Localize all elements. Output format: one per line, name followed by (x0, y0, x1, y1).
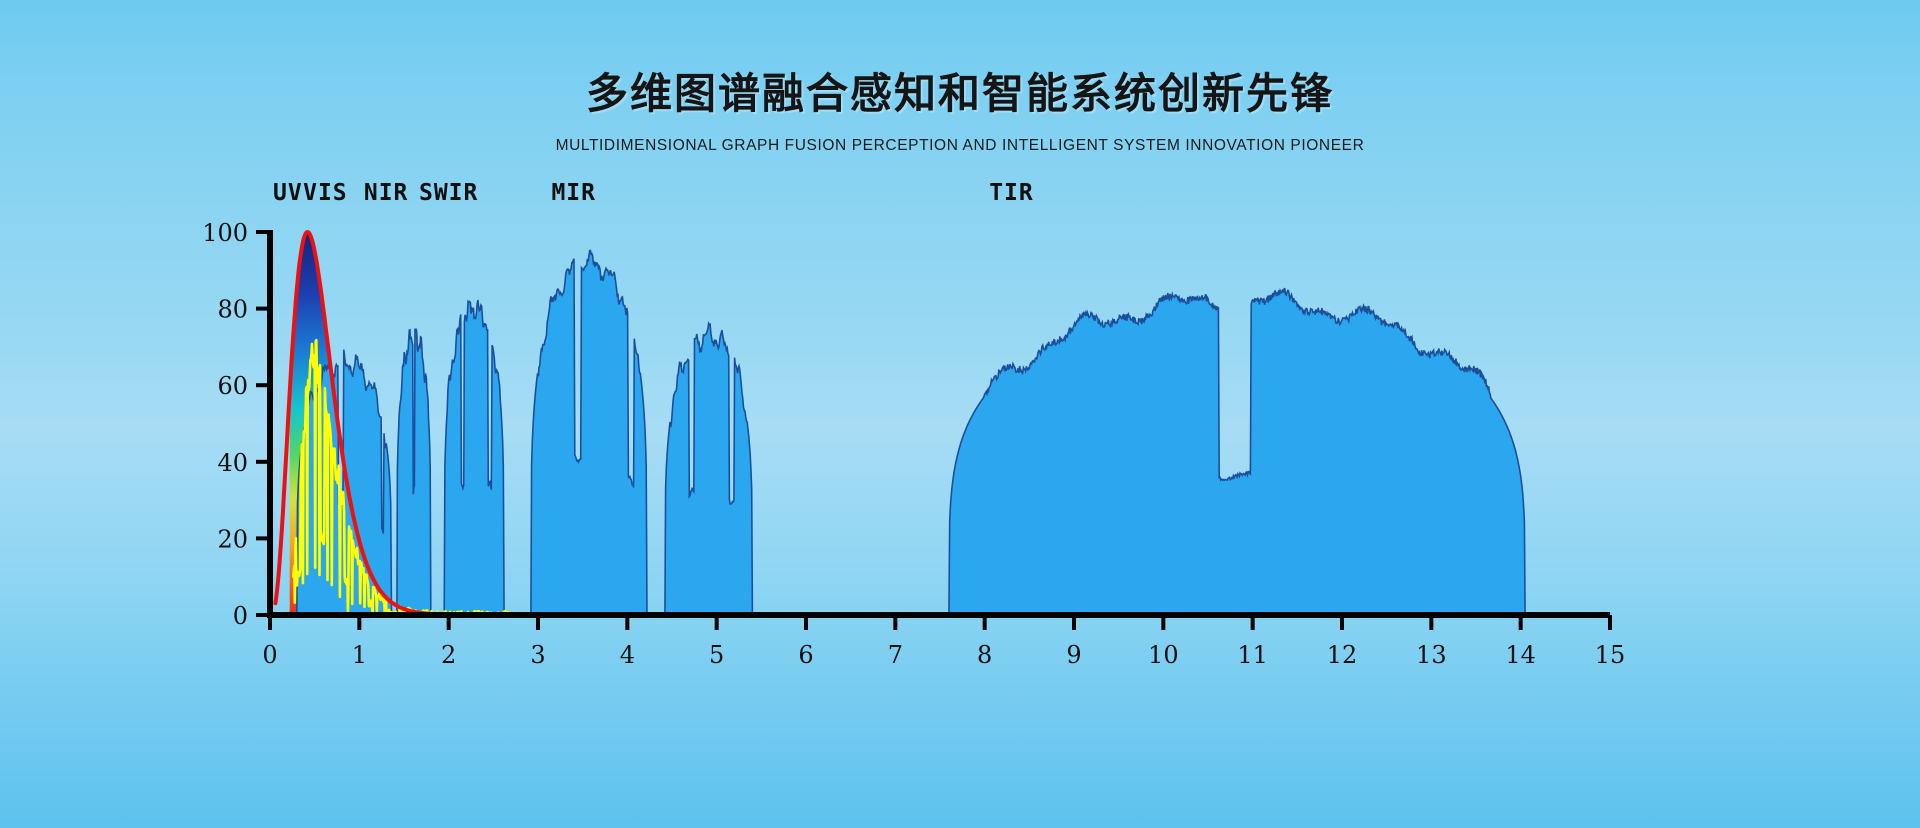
spectrum-chart-svg: 0204060801000123456789101112131415 UVVIS… (0, 170, 1920, 828)
band-label-tir: TIR (989, 180, 1034, 206)
x-tick-label: 3 (530, 641, 545, 669)
x-tick-label: 10 (1148, 641, 1179, 669)
band-labels: UVVISNIRSWIRMIRTIR (273, 180, 1034, 206)
x-tick-label: 12 (1327, 641, 1358, 669)
band-label-nir: NIR (364, 180, 409, 206)
y-tick-label: 80 (217, 296, 248, 324)
y-tick-label: 40 (217, 449, 248, 477)
x-tick-label: 0 (262, 641, 277, 669)
transmission-window (531, 251, 647, 615)
transmission-window (444, 300, 504, 615)
spectrum-chart: 0204060801000123456789101112131415 UVVIS… (0, 170, 1920, 828)
x-tick-label: 7 (888, 641, 903, 669)
y-tick-label: 100 (202, 219, 248, 247)
x-tick-label: 1 (352, 641, 367, 669)
page-header: 多维图谱融合感知和智能系统创新先锋 MULTIDIMENSIONAL GRAPH… (0, 0, 1920, 155)
band-label-mir: MIR (551, 180, 596, 206)
x-tick-label: 6 (798, 641, 813, 669)
transmission-bands (297, 251, 1525, 615)
band-label-vis: VIS (303, 180, 348, 206)
x-tick-label: 8 (977, 641, 992, 669)
x-tick-label: 2 (441, 641, 456, 669)
y-tick-label: 60 (217, 372, 248, 400)
x-tick-label: 13 (1416, 641, 1447, 669)
transmission-window (665, 323, 753, 615)
y-tick-label: 20 (217, 525, 248, 553)
x-tick-label: 5 (709, 641, 724, 669)
x-tick-label: 15 (1595, 641, 1626, 669)
page-subtitle: MULTIDIMENSIONAL GRAPH FUSION PERCEPTION… (0, 121, 1920, 155)
y-tick-label: 0 (233, 602, 248, 630)
band-label-uv: UV (273, 180, 303, 206)
x-tick-label: 9 (1066, 641, 1081, 669)
transmission-window (397, 329, 431, 615)
page-title: 多维图谱融合感知和智能系统创新先锋 (0, 0, 1920, 121)
x-tick-label: 11 (1237, 641, 1268, 669)
band-label-swir: SWIR (419, 180, 478, 206)
x-tick-label: 4 (620, 641, 635, 669)
transmission-window (949, 288, 1525, 615)
x-tick-label: 14 (1505, 641, 1536, 669)
